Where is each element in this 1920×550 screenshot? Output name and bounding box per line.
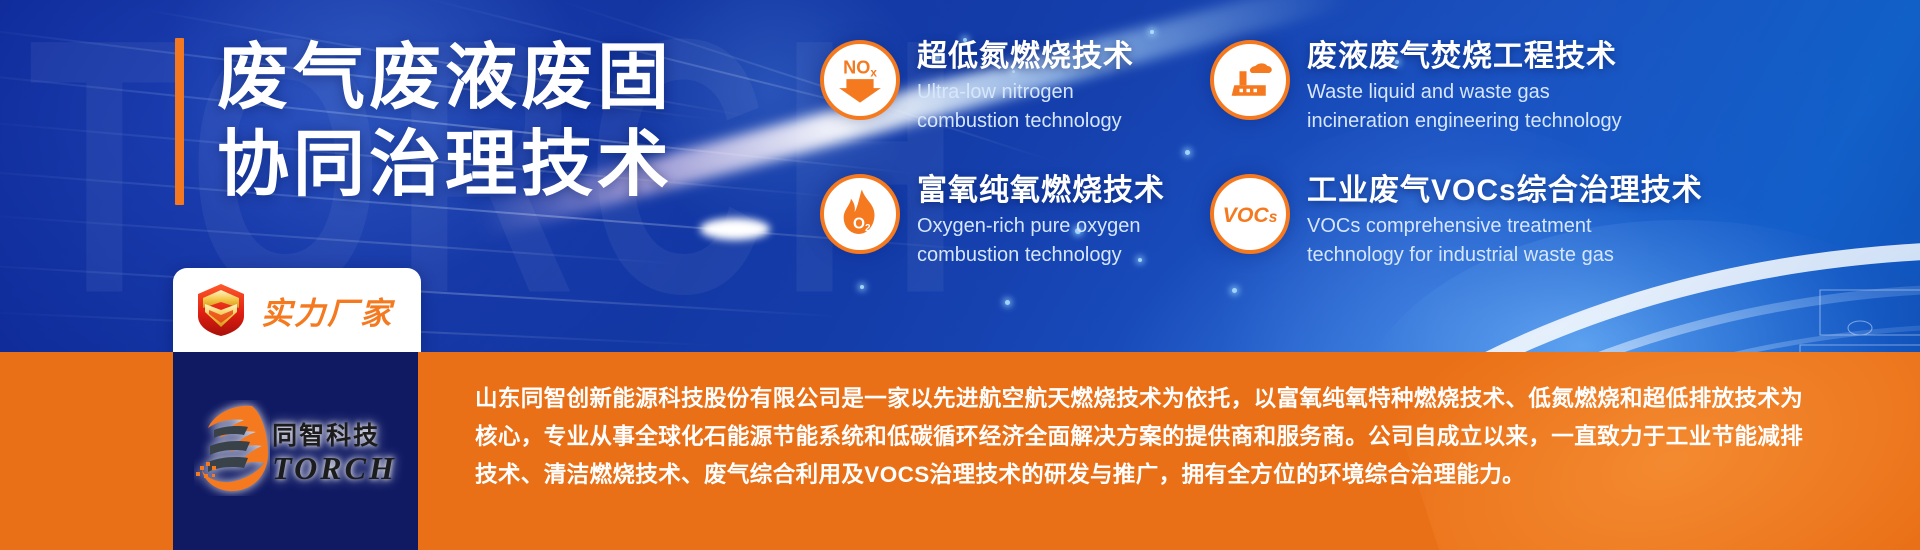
headline-line-2: 协同治理技术 <box>217 125 673 206</box>
feature-item-oxygen-rich-combustion[interactable]: O2 富氧纯氧燃烧技术 Oxygen-rich pure oxygen comb… <box>820 170 1192 298</box>
svg-text:NOx: NOx <box>843 58 877 80</box>
feature-title-en-1: VOCs comprehensive treatment <box>1307 213 1703 239</box>
logo-panel[interactable]: 同智科技 TORCH <box>173 352 418 550</box>
logo-name-en: TORCH <box>272 450 397 487</box>
feature-title-en-2: combustion technology <box>917 242 1165 268</box>
vocs-icon: VOCs <box>1210 174 1290 254</box>
feature-title-en-1: Oxygen-rich pure oxygen <box>917 213 1165 239</box>
promotional-banner: TORCH <box>0 0 1920 550</box>
feature-title-en-2: combustion technology <box>917 108 1134 134</box>
headline-line-1: 废气废液废固 <box>217 38 673 119</box>
svg-text:VOCs: VOCs <box>1223 203 1278 227</box>
title-accent-bar <box>175 38 184 205</box>
strength-manufacturer-badge[interactable]: 实力厂家 <box>173 268 421 352</box>
feature-title-en-1: Waste liquid and waste gas <box>1307 79 1622 105</box>
feature-grid: NOx 超低氮燃烧技术 Ultra-low nitrogen combustio… <box>820 36 1640 298</box>
feature-title-en-2: technology for industrial waste gas <box>1307 242 1703 268</box>
nox-down-arrow-icon: NOx <box>820 40 900 120</box>
feature-item-ultra-low-nitrogen[interactable]: NOx 超低氮燃烧技术 Ultra-low nitrogen combustio… <box>820 36 1192 164</box>
shield-award-icon <box>195 282 247 338</box>
torch-flame-swirl-icon <box>194 400 270 496</box>
feature-title-en-2: incineration engineering technology <box>1307 108 1622 134</box>
feature-title-cn: 工业废气VOCs综合治理技术 <box>1307 172 1703 210</box>
headline-block: 废气废液废固 协同治理技术 <box>175 38 673 205</box>
feature-title-cn: 废液废气焚烧工程技术 <box>1307 38 1622 76</box>
logo-name-cn: 同智科技 <box>272 416 380 452</box>
factory-smokestack-icon <box>1210 40 1290 120</box>
feature-item-waste-incineration[interactable]: 废液废气焚烧工程技术 Waste liquid and waste gas in… <box>1210 36 1640 164</box>
orange-band-left <box>0 352 173 550</box>
feature-item-vocs-treatment[interactable]: VOCs 工业废气VOCs综合治理技术 VOCs comprehensive t… <box>1210 170 1640 298</box>
flame-o2-icon: O2 <box>820 174 900 254</box>
feature-title-en-1: Ultra-low nitrogen <box>917 79 1134 105</box>
feature-title-cn: 超低氮燃烧技术 <box>917 38 1134 76</box>
badge-label: 实力厂家 <box>261 288 393 333</box>
sparkle-dot <box>1005 300 1010 305</box>
lens-flare-core <box>700 218 770 240</box>
orange-band-right: 山东同智创新能源科技股份有限公司是一家以先进航空航天燃烧技术为依托，以富氧纯氧特… <box>418 352 1920 550</box>
feature-title-cn: 富氧纯氧燃烧技术 <box>917 172 1165 210</box>
company-description: 山东同智创新能源科技股份有限公司是一家以先进航空航天燃烧技术为依托，以富氧纯氧特… <box>475 380 1805 494</box>
